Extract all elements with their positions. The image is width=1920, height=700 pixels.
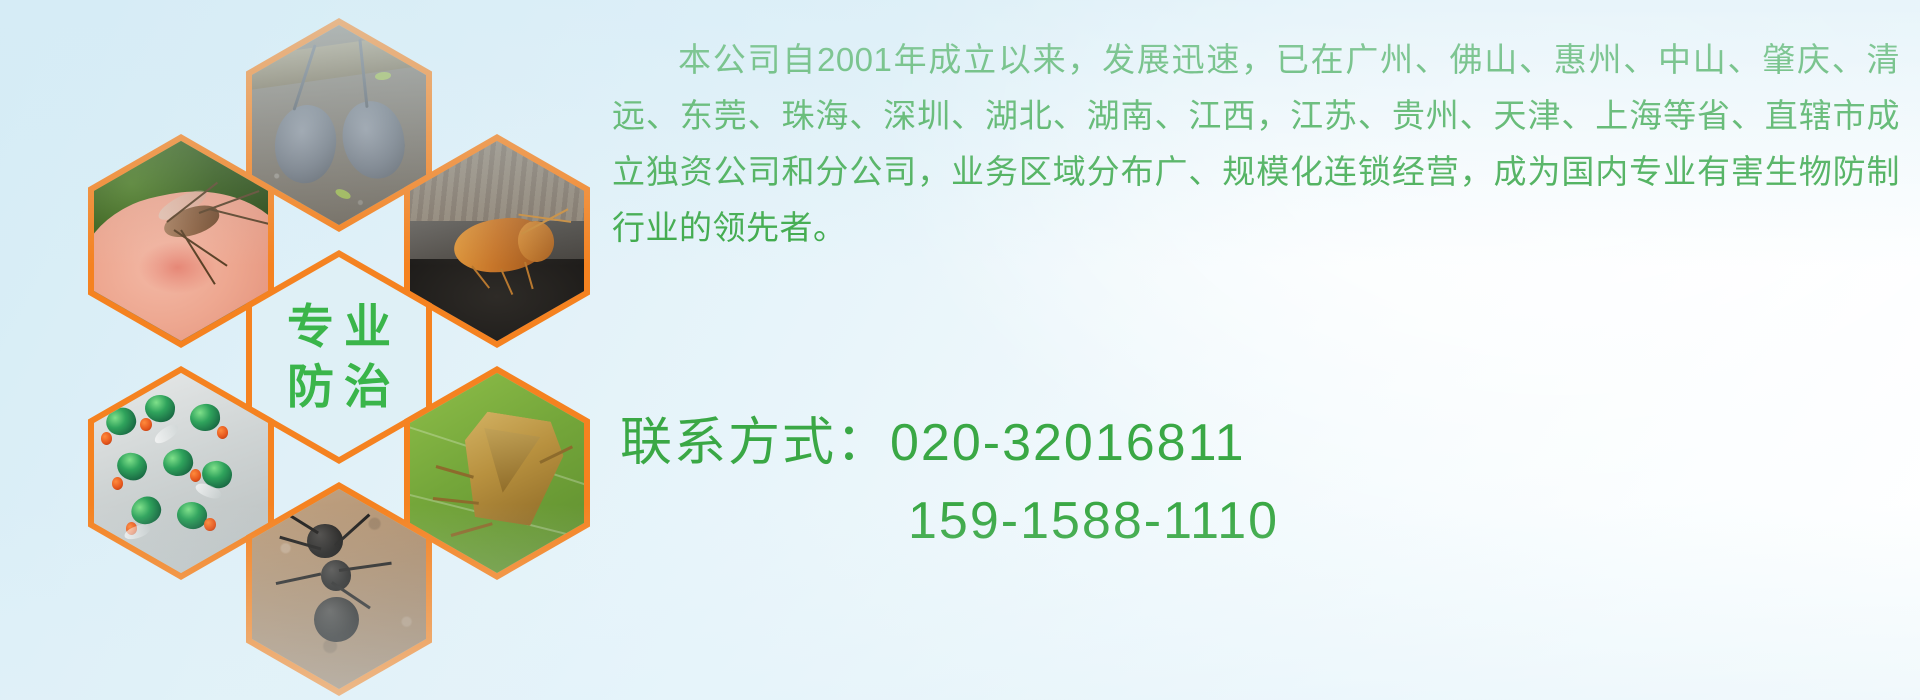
- fly-wing-1: [151, 422, 180, 446]
- contact-line-secondary[interactable]: 159-1588-1110: [620, 482, 1910, 560]
- cockroach-photo: [410, 141, 584, 341]
- rats-photo: [252, 25, 426, 225]
- center-label-line2: 防治: [277, 360, 401, 414]
- promo-banner: 专业 防治: [0, 0, 1920, 700]
- center-label-line1: 专业: [277, 300, 401, 354]
- leaf-debris-3: [285, 200, 303, 213]
- company-intro-paragraph: 本公司自2001年成立以来，发展迅速，已在广州、佛山、惠州、中山、肇庆、清远、东…: [612, 32, 1900, 256]
- fly-head-8: [204, 518, 216, 531]
- center-label-frame: 专业 防治: [252, 257, 426, 457]
- stinkbug-photo: [410, 373, 584, 573]
- contact-block: 联系方式：020-32016811 159-1588-1110: [620, 404, 1910, 560]
- ant-abdomen: [314, 597, 359, 642]
- hex-photo-frame: [94, 141, 268, 341]
- hex-photo-frame: [252, 489, 426, 689]
- fly-head-3: [217, 426, 229, 439]
- mosquito-photo: [94, 141, 268, 341]
- hex-photo-frame: [410, 373, 584, 573]
- honeycomb-gallery: 专业 防治: [88, 6, 588, 566]
- fly-head-4: [112, 477, 124, 490]
- hex-photo-frame: [252, 25, 426, 225]
- fly-3: [189, 402, 222, 432]
- flies-photo: [94, 373, 268, 573]
- company-intro-block: 本公司自2001年成立以来，发展迅速，已在广州、佛山、惠州、中山、肇庆、清远、东…: [612, 32, 1902, 256]
- wood-grain: [410, 141, 584, 221]
- hex-photo-frame: [410, 141, 584, 341]
- contact-line-primary[interactable]: 联系方式：020-32016811: [620, 404, 1910, 482]
- fly-head-2: [140, 418, 152, 431]
- fly-head-5: [190, 469, 202, 482]
- fly-head-1: [101, 432, 113, 445]
- hex-photo-frame: [94, 373, 268, 573]
- stinkbug-leg-3: [450, 522, 492, 537]
- ant-photo: [252, 489, 426, 689]
